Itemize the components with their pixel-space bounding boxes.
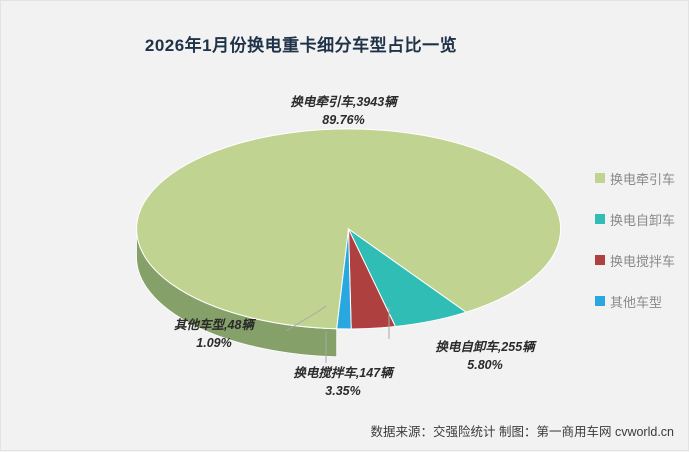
data-label-tractor-pct: 89.76%: [256, 111, 431, 129]
legend-item-dump[interactable]: 换电自卸车: [595, 210, 689, 228]
data-label-tractor-name: 换电牵引车,3943辆: [256, 93, 431, 111]
data-label-mixer: 换电搅拌车,147辆 3.35%: [263, 364, 423, 400]
data-label-other-pct: 1.09%: [134, 334, 294, 352]
source-note: 数据来源：交强险统计 制图：第一商用车网 cvworld.cn: [371, 421, 675, 440]
pie-chart: [136, 129, 561, 329]
legend-item-label: 换电搅拌车: [610, 251, 675, 270]
chart-title: 2026年1月份换电重卡细分车型占比一览: [1, 31, 601, 56]
legend-item-label: 换电牵引车: [610, 169, 675, 188]
data-label-tractor: 换电牵引车,3943辆 89.76%: [256, 93, 431, 129]
legend-swatch-icon: [595, 296, 605, 306]
data-label-mixer-name: 换电搅拌车,147辆: [263, 364, 423, 382]
chart-legend: 换电牵引车 换电自卸车 换电搅拌车 其他车型: [595, 169, 689, 333]
data-label-dump-name: 换电自卸车,255辆: [405, 338, 565, 356]
chart-container: 2026年1月份换电重卡细分车型占比一览: [0, 0, 689, 451]
data-label-other: 其他车型,48辆 1.09%: [134, 316, 294, 352]
legend-item-label: 换电自卸车: [610, 210, 675, 229]
legend-item-other[interactable]: 其他车型: [595, 292, 689, 310]
legend-item-label: 其他车型: [610, 292, 662, 311]
data-label-dump-pct: 5.80%: [405, 356, 565, 374]
data-label-other-name: 其他车型,48辆: [134, 316, 294, 334]
legend-item-tractor[interactable]: 换电牵引车: [595, 169, 689, 187]
legend-swatch-icon: [595, 255, 605, 265]
data-label-mixer-pct: 3.35%: [263, 382, 423, 400]
data-label-dump: 换电自卸车,255辆 5.80%: [405, 338, 565, 374]
legend-swatch-icon: [595, 173, 605, 183]
legend-swatch-icon: [595, 214, 605, 224]
legend-item-mixer[interactable]: 换电搅拌车: [595, 251, 689, 269]
pie-svg: [136, 129, 561, 339]
